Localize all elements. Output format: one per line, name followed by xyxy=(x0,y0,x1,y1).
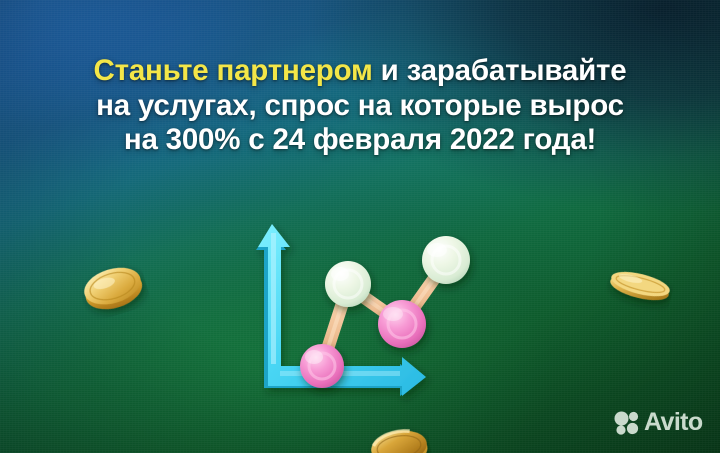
avito-wordmark: Avito xyxy=(644,410,703,435)
headline-accent-text: Станьте партнером xyxy=(93,54,372,87)
headline-line-2: на услугах, спрос на которые вырос xyxy=(18,89,702,124)
chart-node-4 xyxy=(422,236,470,284)
headline-line-1-rest: и зарабатывайте xyxy=(373,54,627,87)
chart-node-2 xyxy=(325,261,371,307)
avito-promo-banner: Станьте партнером и зарабатывайте на усл… xyxy=(0,0,720,453)
headline: Станьте партнером и зарабатывайте на усл… xyxy=(0,54,720,158)
headline-line-3: на 300% с 24 февраля 2022 года! xyxy=(18,123,702,158)
avito-dots-icon xyxy=(614,411,639,435)
chart-node-3 xyxy=(378,300,426,348)
growth-chart-svg xyxy=(250,214,500,414)
avito-logo: Avito xyxy=(614,410,703,435)
chart-data-points xyxy=(300,236,470,388)
chart-node-1 xyxy=(300,344,344,388)
headline-line-1: Станьте партнером и зарабатывайте xyxy=(18,54,702,89)
growth-chart-illustration xyxy=(250,214,500,414)
